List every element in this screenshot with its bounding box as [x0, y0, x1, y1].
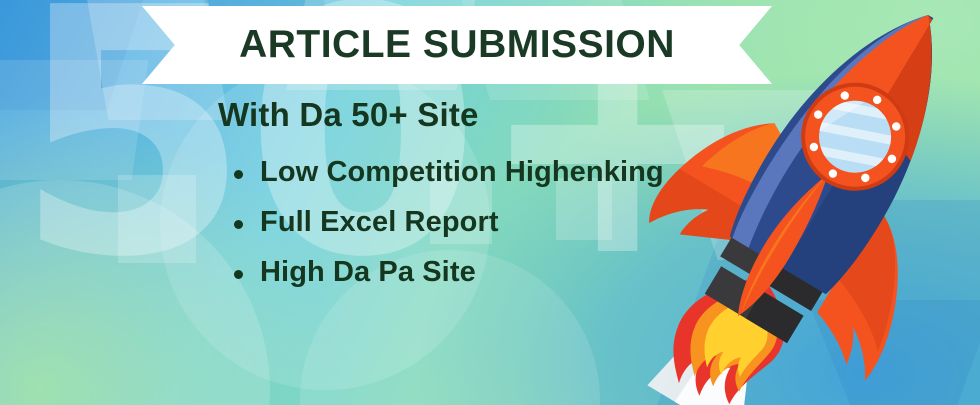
list-item-label: Low Competition Highenking [260, 156, 664, 188]
feature-list: Low Competition Highenking Full Excel Re… [0, 156, 700, 289]
bullet-icon [234, 220, 243, 229]
rocket-illustration [612, 0, 980, 405]
list-item-label: Full Excel Report [260, 206, 499, 238]
list-item-label: High Da Pa Site [260, 256, 476, 288]
promo-banner: 50+ ARTICLE SUBMISSION With Da 50+ Site … [0, 0, 980, 405]
content-block: With Da 50+ Site Low Competition Highenk… [0, 96, 700, 306]
bullet-icon [234, 270, 243, 279]
bullet-icon [234, 170, 243, 179]
